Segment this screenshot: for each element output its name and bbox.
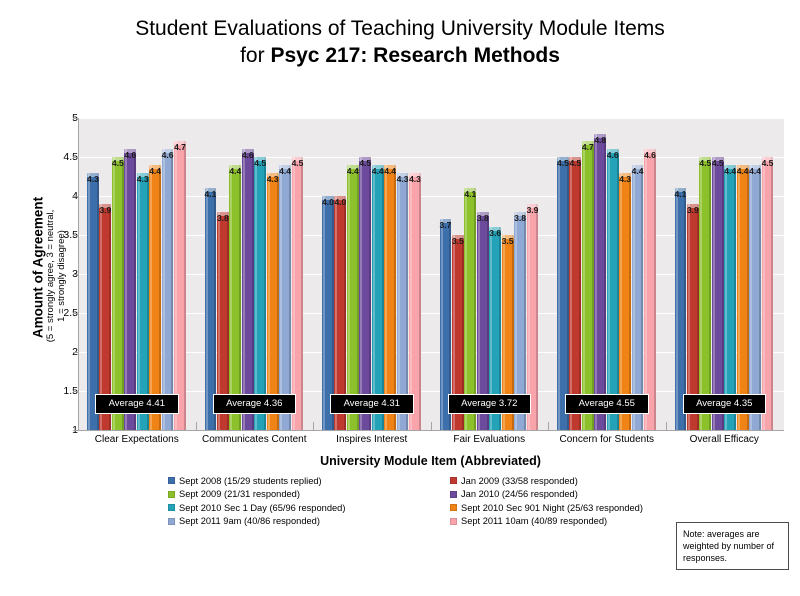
bar: 4.6 <box>242 149 254 430</box>
bar-shadow <box>579 157 581 430</box>
bar-shadow <box>419 173 421 430</box>
page-title: Student Evaluations of Teaching Universi… <box>0 16 800 70</box>
bar-cap <box>687 204 699 208</box>
bar: 4.5 <box>292 157 304 430</box>
x-axis-title: University Module Item (Abbreviated) <box>78 454 783 468</box>
x-axis-group-separator <box>431 422 432 430</box>
bar-shadow <box>734 165 736 430</box>
bar-highlight <box>570 157 572 430</box>
bar-highlight <box>763 157 765 430</box>
bar: 4.4 <box>279 165 291 430</box>
bar-highlight <box>360 157 362 430</box>
group-average-badge: Average 4.36 <box>213 394 297 414</box>
bar-cap <box>762 157 774 161</box>
bar-highlight <box>385 165 387 430</box>
bar: 4.5 <box>712 157 724 430</box>
legend-column-right: Jan 2009 (33/58 responded)Jan 2010 (24/5… <box>450 474 643 528</box>
bar: 4.5 <box>569 157 581 430</box>
bar-highlight <box>88 173 90 430</box>
bar-highlight <box>323 196 325 430</box>
bar: 4.5 <box>699 157 711 430</box>
bar-highlight <box>138 173 140 430</box>
bar-cap <box>322 196 334 200</box>
bar-cap <box>632 165 644 169</box>
bar-highlight <box>398 173 400 430</box>
bar-shadow <box>629 173 631 430</box>
bar-cap <box>334 196 346 200</box>
chart-title-subject: Psyc 217: Research Methods <box>270 44 559 67</box>
legend-item-label: Sept 2008 (15/29 students replied) <box>179 476 322 486</box>
legend-column-left: Sept 2008 (15/29 students replied)Sept 2… <box>168 474 345 528</box>
bar-cap <box>644 149 656 153</box>
y-axis-tick-label: 2 <box>38 346 78 358</box>
legend-swatch-icon <box>168 477 175 484</box>
bar-cap <box>527 204 539 208</box>
y-axis-tick-label: 3.5 <box>38 229 78 241</box>
x-axis-group-separator <box>548 422 549 430</box>
bar-cap <box>347 165 359 169</box>
y-axis-tick-label: 5 <box>38 112 78 124</box>
bar: 4.3 <box>87 173 99 430</box>
legend-item[interactable]: Sept 2008 (15/29 students replied) <box>168 474 345 488</box>
bar: 4.4 <box>737 165 749 430</box>
legend-item[interactable]: Sept 2010 Sec 901 Night (25/63 responded… <box>450 501 643 515</box>
x-axis-category-label: Communicates Content <box>196 434 314 445</box>
bar-cap <box>514 212 526 216</box>
bar-shadow <box>134 149 136 430</box>
bar-highlight <box>255 157 257 430</box>
bar-highlight <box>113 157 115 430</box>
x-axis-category-labels: Clear ExpectationsCommunicates ContentIn… <box>78 434 783 452</box>
bar: 4.4 <box>749 165 761 430</box>
bar-cap <box>174 141 186 145</box>
bar-highlight <box>620 173 622 430</box>
bar: 4.6 <box>644 149 656 430</box>
y-axis-tick-label: 3 <box>38 268 78 280</box>
bar-cap <box>279 165 291 169</box>
bar-cap <box>712 157 724 161</box>
legend-item[interactable]: Sept 2011 9am (40/86 responded) <box>168 515 345 529</box>
bar-cap <box>205 188 217 192</box>
bar-highlight <box>243 149 245 430</box>
bar-highlight <box>558 157 560 430</box>
bar: 4.4 <box>724 165 736 430</box>
bar-highlight <box>373 165 375 430</box>
bar: 4.5 <box>112 157 124 430</box>
bar-cap <box>724 165 736 169</box>
bar-highlight <box>268 173 270 430</box>
legend-item-label: Sept 2010 Sec 901 Night (25/63 responded… <box>461 503 643 513</box>
bar: 4.3 <box>409 173 421 430</box>
bar: 4.3 <box>619 173 631 430</box>
bar-shadow <box>289 165 291 430</box>
bar-highlight <box>280 165 282 430</box>
legend-item[interactable]: Sept 2010 Sec 1 Day (65/96 responded) <box>168 501 345 515</box>
bar: 4.4 <box>229 165 241 430</box>
group-average-badge: Average 4.35 <box>683 394 767 414</box>
legend-item-label: Sept 2009 (21/31 responded) <box>179 489 300 499</box>
bar-highlight <box>583 141 585 430</box>
bar: 4.5 <box>359 157 371 430</box>
bar-cap <box>502 235 514 239</box>
bar-cap <box>162 149 174 153</box>
group-average-badge: Average 3.72 <box>448 394 532 414</box>
bar-highlight <box>645 149 647 430</box>
bar-cap <box>675 188 687 192</box>
bar-highlight <box>608 149 610 430</box>
bar-highlight <box>410 173 412 430</box>
bar-cap <box>137 173 149 177</box>
legend-item[interactable]: Sept 2011 10am (40/89 responded) <box>450 515 643 529</box>
bar-cap <box>372 165 384 169</box>
legend-item-label: Jan 2009 (33/58 responded) <box>461 476 578 486</box>
note-box: Note: averages are weighted by number of… <box>676 522 789 570</box>
bar-shadow <box>184 141 186 430</box>
group-average-badge: Average 4.55 <box>565 394 649 414</box>
bar-highlight <box>125 149 127 430</box>
bar: 4.5 <box>254 157 266 430</box>
bar-highlight <box>750 165 752 430</box>
y-axis-tick-label: 2.5 <box>38 307 78 319</box>
legend-swatch-icon <box>168 504 175 511</box>
bar-highlight <box>713 157 715 430</box>
legend-swatch-icon <box>450 491 457 498</box>
bar-cap <box>124 149 136 153</box>
bar-cap <box>87 173 99 177</box>
bar: 4.6 <box>162 149 174 430</box>
x-axis-group-separator <box>666 422 667 430</box>
bar-cap <box>619 173 631 177</box>
legend-item-label: Sept 2011 10am (40/89 responded) <box>461 516 607 526</box>
bar-cap <box>254 157 266 161</box>
x-axis-category-label: Overall Efficacy <box>666 434 784 445</box>
bar-highlight <box>348 165 350 430</box>
bar-cap <box>149 165 161 169</box>
x-axis-group-separator <box>313 422 314 430</box>
bar-highlight <box>700 157 702 430</box>
bar-highlight <box>738 165 740 430</box>
legend-swatch-icon <box>168 518 175 525</box>
legend-swatch-icon <box>168 491 175 498</box>
bar-cap <box>464 188 476 192</box>
x-axis-category-label: Concern for Students <box>548 434 666 445</box>
bar: 4.3 <box>397 173 409 430</box>
legend-item-label: Sept 2010 Sec 1 Day (65/96 responded) <box>179 503 345 513</box>
x-axis-group-separator <box>196 422 197 430</box>
bar-highlight <box>206 188 208 430</box>
bar-highlight <box>725 165 727 430</box>
bar-highlight <box>163 149 165 430</box>
bar-shadow <box>301 157 303 430</box>
bar: 4.6 <box>124 149 136 430</box>
bar-highlight <box>175 141 177 430</box>
legend-item[interactable]: Jan 2010 (24/56 responded) <box>450 488 643 502</box>
bar-highlight <box>441 219 443 430</box>
bar-cap <box>607 149 619 153</box>
legend-item-label: Sept 2011 9am (40/86 responded) <box>179 516 320 526</box>
bar-cap <box>99 204 111 208</box>
x-axis-category-label: Inspires Interest <box>313 434 431 445</box>
y-axis-tick-label: 1.5 <box>38 385 78 397</box>
bar-cap <box>699 157 711 161</box>
bar-cap <box>489 227 501 231</box>
bar-cap <box>359 157 371 161</box>
y-axis-tick-label: 4 <box>38 190 78 202</box>
chart-title-prefix: for <box>240 44 270 67</box>
legend-item-label: Jan 2010 (24/56 responded) <box>461 489 578 499</box>
bar-cap <box>267 173 279 177</box>
bar-cap <box>229 165 241 169</box>
bar-shadow <box>654 149 656 430</box>
bar-cap <box>477 212 489 216</box>
bar-cap <box>384 165 396 169</box>
bar-shadow <box>536 204 538 430</box>
bar: 4.7 <box>582 141 594 430</box>
bar-shadow <box>159 165 161 430</box>
chart-title-line-1: Student Evaluations of Teaching Universi… <box>0 16 800 43</box>
legend-swatch-icon <box>450 518 457 525</box>
bar-cap <box>582 141 594 145</box>
bar: 4.3 <box>267 173 279 430</box>
bar: 4.7 <box>174 141 186 430</box>
bar-highlight <box>595 134 597 430</box>
bar-highlight <box>150 165 152 430</box>
bar-shadow <box>604 134 606 430</box>
bar-highlight <box>230 165 232 430</box>
bar: 4.4 <box>384 165 396 430</box>
bar: 4.5 <box>762 157 774 430</box>
bar: 4.8 <box>594 134 606 430</box>
bar-cap <box>749 165 761 169</box>
x-axis-category-label: Clear Expectations <box>78 434 196 445</box>
bar-cap <box>569 157 581 161</box>
y-axis-tick-label: 4.5 <box>38 151 78 163</box>
bars-layer: 4.33.94.54.64.34.44.64.7Average 4.414.13… <box>78 118 783 430</box>
bar-highlight <box>633 165 635 430</box>
bar-cap <box>409 173 421 177</box>
legend-item[interactable]: Jan 2009 (33/58 responded) <box>450 474 643 488</box>
chart-legend: Sept 2008 (15/29 students replied)Sept 2… <box>168 474 668 532</box>
bar: 4.4 <box>632 165 644 430</box>
bar-shadow <box>709 157 711 430</box>
legend-item[interactable]: Sept 2009 (21/31 responded) <box>168 488 345 502</box>
bar-cap <box>452 235 464 239</box>
bar-cap <box>737 165 749 169</box>
bar-shadow <box>759 165 761 430</box>
bar-shadow <box>264 157 266 430</box>
bar-cap <box>292 157 304 161</box>
bar: 4.4 <box>372 165 384 430</box>
bar-cap <box>217 212 229 216</box>
bar: 4.4 <box>347 165 359 430</box>
bar-shadow <box>394 165 396 430</box>
bar-shadow <box>771 157 773 430</box>
bar-highlight <box>676 188 678 430</box>
bar-cap <box>557 157 569 161</box>
bar-highlight <box>293 157 295 430</box>
chart-title-line-2: for Psyc 217: Research Methods <box>0 43 800 70</box>
x-axis-category-label: Fair Evaluations <box>431 434 549 445</box>
y-axis-tick-label: 1 <box>38 424 78 436</box>
bar-cap <box>112 157 124 161</box>
legend-swatch-icon <box>450 504 457 511</box>
group-average-badge: Average 4.31 <box>330 394 414 414</box>
bar-cap <box>440 219 452 223</box>
bar-cap <box>594 134 606 138</box>
legend-swatch-icon <box>450 477 457 484</box>
bar: 4.3 <box>137 173 149 430</box>
y-axis-tick-labels: 54.543.532.521.51 <box>30 118 78 430</box>
bar: 4.5 <box>557 157 569 430</box>
bar: 4.6 <box>607 149 619 430</box>
bar-cap <box>242 149 254 153</box>
bar-shadow <box>239 165 241 430</box>
bar-shadow <box>369 157 371 430</box>
bar-cap <box>397 173 409 177</box>
group-average-badge: Average 4.41 <box>95 394 179 414</box>
bar: 4.4 <box>149 165 161 430</box>
